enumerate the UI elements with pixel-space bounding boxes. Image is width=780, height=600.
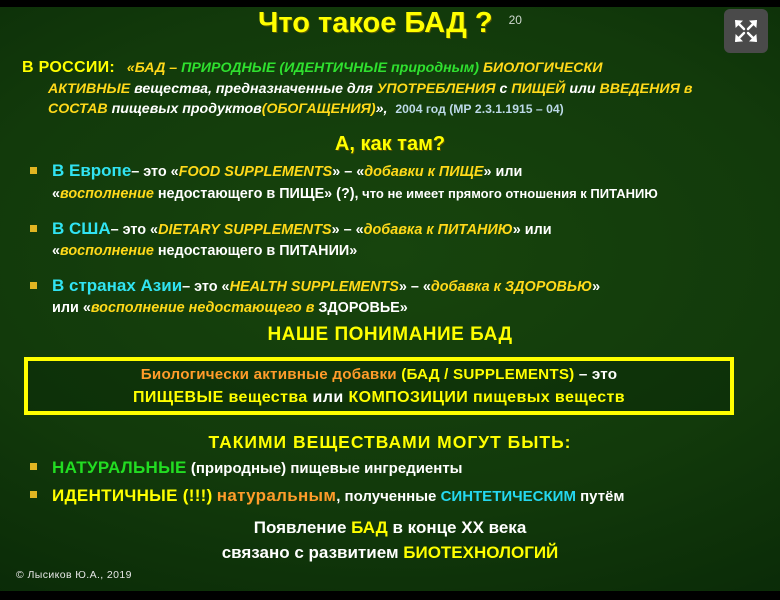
russia-l1-c: БИОЛОГИЧЕСКИ xyxy=(483,60,602,76)
item-natural-b: (природные) пищевые ингредиенты xyxy=(187,460,463,477)
fullscreen-expand-icon xyxy=(731,16,761,46)
region-europe-l2-em: восполнение xyxy=(60,186,154,202)
region-usa-close1: » – xyxy=(332,222,356,238)
box-l1-a: Биологически активные добавки xyxy=(141,366,397,383)
region-usa-name: В США xyxy=(52,219,111,238)
closing-l1-c: в конце ХХ века xyxy=(388,518,527,537)
box-l1-b: (БАД / SUPPLEMENTS) xyxy=(401,366,574,383)
box-line-1: Биологически активные добавки (БАД / SUP… xyxy=(141,364,617,386)
region-usa-or: или xyxy=(521,222,552,238)
box-l2-b: или xyxy=(313,389,344,406)
region-asia-meaning: добавка к ЗДОРОВЬЮ xyxy=(431,279,592,295)
region-asia-close1: » – xyxy=(399,279,423,295)
region-europe-l2-tail: что не имеет прямого отношения к ПИТАНИЮ xyxy=(359,186,658,201)
copyright-notice: © Лысиков Ю.А., 2019 xyxy=(16,569,132,581)
region-asia-l2-open: или « xyxy=(52,300,91,316)
russia-l3-b: пищевых продуктов xyxy=(112,101,262,117)
region-usa: В США– это «DIETARY SUPPLEMENTS» – «доба… xyxy=(22,218,770,262)
region-usa-l2-close: » xyxy=(349,243,357,259)
regions-list: В Европе– это «FOOD SUPPLEMENTS» – «доба… xyxy=(22,160,770,332)
region-europe-or: или xyxy=(491,164,522,180)
region-europe-meaning: добавки к ПИЩЕ xyxy=(364,164,483,180)
bullet-square-icon xyxy=(30,282,37,289)
fullscreen-button[interactable] xyxy=(724,9,768,53)
closing-line-2: связано с развитием БИОТЕХНОЛОГИЙ xyxy=(0,540,780,565)
russia-l3-c: (ОБОГАЩЕНИЯ) xyxy=(262,101,376,117)
russia-l2-a: АКТИВНЫЕ xyxy=(48,81,130,97)
page-title: Что такое БАД ? xyxy=(258,7,493,40)
item-identical-f: путём xyxy=(576,488,625,505)
bullet-square-icon xyxy=(30,491,37,498)
box-line-2: ПИЩЕВЫЕ вещества или КОМПОЗИЦИИ пищевых … xyxy=(133,386,625,409)
russia-l2-f: ПИЩЕЙ xyxy=(511,81,565,97)
region-europe-name: В Европе xyxy=(52,161,131,180)
region-usa-l2-em: восполнение xyxy=(60,243,154,259)
title-row: Что такое БАД ?20 xyxy=(0,7,780,40)
bullet-square-icon xyxy=(30,167,37,174)
region-europe-l2-mid: недостающего в ПИЩЕ xyxy=(154,186,324,202)
box-l2-a: ПИЩЕВЫЕ вещества xyxy=(133,389,308,406)
item-natural-a: НАТУРАЛЬНЫЕ xyxy=(52,458,187,477)
region-usa-meaning: добавка к ПИТАНИЮ xyxy=(364,222,513,238)
region-usa-term: DIETARY SUPPLEMENTS xyxy=(158,222,332,238)
such-substances-list: НАТУРАЛЬНЫЕ (природные) пищевые ингредие… xyxy=(22,457,770,513)
our-understanding-box: Биологически активные добавки (БАД / SUP… xyxy=(24,357,734,415)
item-identical-d: , полученные xyxy=(336,488,440,505)
item-natural: НАТУРАЛЬНЫЕ (природные) пищевые ингредие… xyxy=(22,457,770,479)
russia-l1-b: ПРИРОДНЫЕ (ИДЕНТИЧНЫЕ природным) xyxy=(181,60,479,76)
region-europe: В Европе– это «FOOD SUPPLEMENTS» – «доба… xyxy=(22,160,770,205)
region-usa-dash: – это « xyxy=(111,222,158,238)
closing-statement: Появление БАД в конце ХХ века связано с … xyxy=(0,515,780,565)
region-asia-l2-close: » xyxy=(400,300,408,316)
closing-l1-b: БАД xyxy=(351,518,388,537)
russia-l2-c: предназначенные для xyxy=(216,81,373,97)
region-asia-name: В странах Азии xyxy=(52,276,182,295)
region-europe-l2-close: » (?), xyxy=(324,186,358,202)
russia-l1-a: «БАД – xyxy=(127,60,177,76)
russia-l2-b: вещества, xyxy=(134,81,212,97)
russia-l2-g: или xyxy=(569,81,595,97)
box-l1-c: – это xyxy=(579,366,617,383)
russia-l2-d: УПОТРЕБЛЕНИЯ xyxy=(377,81,496,97)
closing-line-1: Появление БАД в конце ХХ века xyxy=(0,515,780,540)
region-asia: В странах Азии– это «HEALTH SUPPLEMENTS»… xyxy=(22,275,770,319)
region-usa-close2: » xyxy=(513,222,521,238)
region-usa-l2-mid: недостающего в ПИТАНИИ xyxy=(154,243,349,259)
region-asia-close2: » xyxy=(592,279,600,295)
russia-l2-e: с xyxy=(499,81,507,97)
region-europe-term: FOOD SUPPLEMENTS xyxy=(179,164,333,180)
region-asia-quote-open: « xyxy=(423,279,431,295)
item-identical: ИДЕНТИЧНЫЕ (!!!) натуральным, полученные… xyxy=(22,485,770,507)
region-asia-term: HEALTH SUPPLEMENTS xyxy=(230,279,399,295)
region-asia-l2-mid: ЗДОРОВЬЕ xyxy=(314,300,399,316)
bullet-square-icon xyxy=(30,463,37,470)
region-usa-l2-open: « xyxy=(52,243,60,259)
russia-l3-a: СОСТАВ xyxy=(48,101,108,117)
how-there-heading: А, как там? xyxy=(0,133,780,156)
such-substances-heading: ТАКИМИ ВЕЩЕСТВАМИ МОГУТ БЫТЬ: xyxy=(0,432,780,453)
region-europe-l2-open: « xyxy=(52,186,60,202)
slide-number: 20 xyxy=(509,13,522,27)
russia-citation: 2004 год (МР 2.3.1.1915 – 04) xyxy=(395,102,563,116)
region-asia-dash: – это « xyxy=(182,279,229,295)
item-identical-c: натуральным xyxy=(217,486,336,505)
our-understanding-heading: НАШЕ ПОНИМАНИЕ БАД xyxy=(0,324,780,346)
item-identical-e: СИНТЕТИЧЕСКИМ xyxy=(441,488,576,505)
presentation-slide: Что такое БАД ?20 В РОССИИ: «БАД – ПРИРО… xyxy=(0,0,780,600)
bullet-square-icon xyxy=(30,225,37,232)
russia-lead-colon: : xyxy=(109,59,115,76)
russia-l2-h: ВВЕДЕНИЯ в xyxy=(599,81,692,97)
region-europe-dash: – это « xyxy=(131,164,178,180)
closing-l1-a: Появление xyxy=(254,518,351,537)
russia-lead: В РОССИИ xyxy=(22,59,109,76)
box-l2-c: КОМПОЗИЦИИ пищевых веществ xyxy=(348,389,625,406)
region-usa-quote-open: « xyxy=(356,222,364,238)
russia-l3-d: », xyxy=(376,101,388,117)
region-europe-close1: » – xyxy=(332,164,356,180)
closing-l2-b: БИОТЕХНОЛОГИЙ xyxy=(403,543,558,562)
item-identical-a: ИДЕНТИЧНЫЕ (!!!) xyxy=(52,486,213,505)
region-asia-l2-em: восполнение недостающего в xyxy=(91,300,315,316)
closing-l2-a: связано с развитием xyxy=(222,543,404,562)
russia-definition: В РОССИИ: «БАД – ПРИРОДНЫЕ (ИДЕНТИЧНЫЕ п… xyxy=(22,58,766,120)
